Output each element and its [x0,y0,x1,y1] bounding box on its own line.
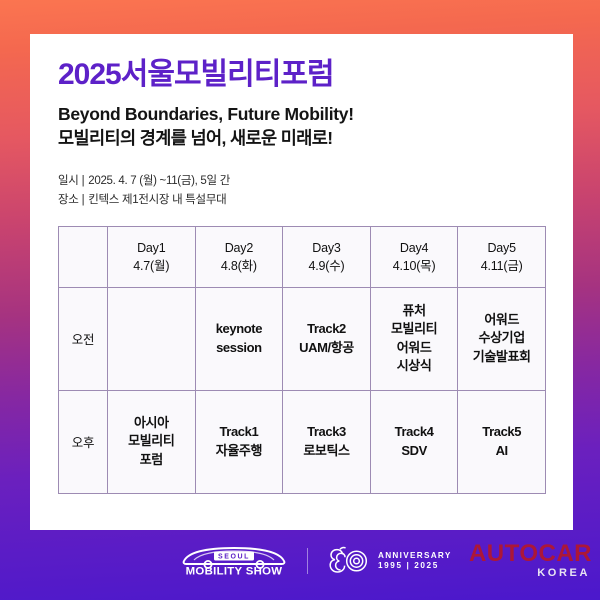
table-row: 오전 keynotesession Track2UAM/항공 퓨처모빌리티어워드… [59,287,546,390]
sms-ribbon-text: SEOUL [218,553,250,560]
session-line: session [196,339,283,357]
session-line: keynote [196,320,283,338]
day-date: 4.10(목) [371,257,458,275]
footer-bar: SEOUL MOBILITY SHOW [0,530,600,600]
session-cell: Track5AI [458,390,546,493]
footer-logo-group: SEOUL MOBILITY SHOW [178,544,452,578]
session-line: AI [458,442,545,460]
table-corner-cell [59,226,108,287]
day-header-cell: Day2 4.8(화) [195,226,283,287]
session-line: 수상기업 [458,329,545,347]
session-line: 기술발표회 [458,348,545,366]
session-line: 어워드 [458,311,545,329]
page-title: 2025서울모빌리티포럼 [58,58,545,91]
info-date-value: 2025. 4. 7 (월) ~11(금), 5일 간 [88,175,230,187]
session-cell: 아시아모빌리티포럼 [108,390,196,493]
session-line: Track1 [196,423,283,441]
schedule-table: Day1 4.7(월) Day2 4.8(화) Day3 4.9(수) Da [58,226,546,494]
session-cell [108,287,196,390]
car-silhouette-icon: SEOUL MOBILITY SHOW [178,544,290,578]
spiral-30-icon [325,545,373,577]
day-number: Day2 [196,239,283,257]
session-cell: Track3로보틱스 [283,390,371,493]
session-line: Track4 [371,423,458,441]
day-date: 4.11(금) [458,257,545,275]
info-venue-value: 킨텍스 제1전시장 내 특설무대 [88,194,226,206]
day-number: Day1 [108,239,195,257]
session-line: SDV [371,442,458,460]
info-venue-line: 장소|킨텍스 제1전시장 내 특설무대 [58,191,545,210]
row-label-morning: 오전 [59,287,108,390]
info-venue-separator: | [79,191,89,210]
session-line: 아시아 [108,414,195,432]
info-venue-label: 장소 [58,191,79,210]
session-line: Track5 [458,423,545,441]
session-cell: 퓨처모빌리티어워드시상식 [370,287,458,390]
session-line: 자율주행 [196,442,283,460]
poster-root: 2025서울모빌리티포럼 Beyond Boundaries, Future M… [0,0,600,600]
day-number: Day3 [283,239,370,257]
day-date: 4.8(화) [196,257,283,275]
event-info: 일시|2025. 4. 7 (월) ~11(금), 5일 간 장소|킨텍스 제1… [58,172,545,210]
day-header-cell: Day5 4.11(금) [458,226,546,287]
info-date-label: 일시 [58,172,79,191]
day-date: 4.9(수) [283,257,370,275]
anniversary-logo: ANNIVERSARY 1995 | 2025 [325,545,452,577]
session-line: 로보틱스 [283,442,370,460]
day-header-cell: Day4 4.10(목) [370,226,458,287]
autocar-korea-logo: AUTOCAR KOREA [469,542,592,579]
session-cell: Track2UAM/항공 [283,287,371,390]
sms-name-text: MOBILITY SHOW [186,566,283,578]
footer-divider [307,548,308,574]
session-line: 퓨처 [371,302,458,320]
session-line: UAM/항공 [283,339,370,357]
session-line: 시상식 [371,357,458,375]
table-header-row: Day1 4.7(월) Day2 4.8(화) Day3 4.9(수) Da [59,226,546,287]
content-card: 2025서울모빌리티포럼 Beyond Boundaries, Future M… [30,34,573,530]
session-line: 포럼 [108,451,195,469]
seoul-mobility-show-logo: SEOUL MOBILITY SHOW [178,544,290,578]
info-date-line: 일시|2025. 4. 7 (월) ~11(금), 5일 간 [58,172,545,191]
session-cell: Track4SDV [370,390,458,493]
day-number: Day5 [458,239,545,257]
autocar-region: KOREA [469,568,590,579]
session-line: Track3 [283,423,370,441]
day-number: Day4 [371,239,458,257]
subtitle-korean: 모빌리티의 경계를 넘어, 새로운 미래로! [58,128,545,150]
session-line: Track2 [283,320,370,338]
session-cell: Track1자율주행 [195,390,283,493]
info-date-separator: | [79,172,89,191]
session-cell: keynotesession [195,287,283,390]
subtitle-english: Beyond Boundaries, Future Mobility! [58,104,545,126]
row-label-afternoon: 오후 [59,390,108,493]
day-date: 4.7(월) [108,257,195,275]
anniversary-years: 1995 | 2025 [378,562,452,571]
day-header-cell: Day1 4.7(월) [108,226,196,287]
table-row: 오후 아시아모빌리티포럼 Track1자율주행 Track3로보틱스 Track… [59,390,546,493]
anniversary-text: ANNIVERSARY 1995 | 2025 [378,552,452,570]
session-line: 모빌리티 [371,320,458,338]
session-line: 모빌리티 [108,432,195,450]
anniversary-word: ANNIVERSARY [378,552,452,561]
day-header-cell: Day3 4.9(수) [283,226,371,287]
session-line: 어워드 [371,339,458,357]
session-cell: 어워드수상기업기술발표회 [458,287,546,390]
autocar-brand: AUTOCAR [469,542,592,566]
